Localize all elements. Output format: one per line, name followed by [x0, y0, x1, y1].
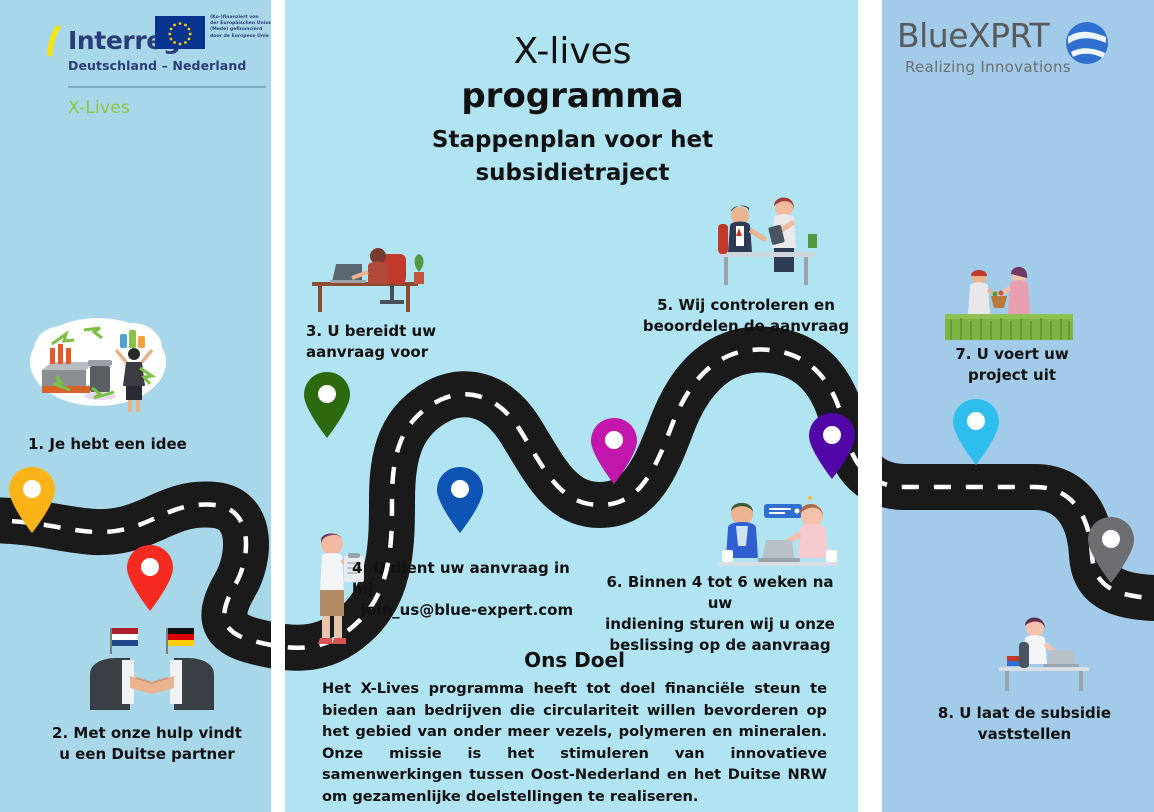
goal-title: Ons Doel	[322, 648, 827, 672]
eu-funding-line-4: door de Europese Unie	[210, 34, 282, 40]
page-tagline-line-2: subsidietraject	[300, 157, 845, 190]
flag-germany-icon	[166, 628, 194, 654]
poster-title-block: X-lives programma Stappenplan voor het s…	[300, 30, 845, 190]
illustration-idea-cloud	[28, 310, 168, 425]
step-5-line-1: 5. Wij controleren en	[641, 295, 851, 316]
page-tagline-line-1: Stappenplan voor het	[300, 124, 845, 157]
map-pin-step-6[interactable]	[806, 412, 858, 480]
flag-netherlands-icon	[110, 628, 138, 654]
interreg-programme: Deutschland – Nederland	[68, 58, 246, 73]
step-6-line-1: 6. Binnen 4 tot 6 weken na uw	[600, 572, 840, 614]
step-3-line-2: aanvraag voor	[306, 342, 476, 363]
step-label-3: 3. U bereidt uw aanvraag voor	[306, 321, 476, 363]
infographic-poster: Interreg Deutschland – Nederland X-Lives…	[0, 0, 1154, 812]
illustration-team-with-laptop	[700, 492, 848, 570]
bluexprt-wordmark: BlueXPRT	[897, 16, 1049, 55]
bluexprt-logo: BlueXPRT Realizing Innovations	[897, 16, 1112, 78]
step-8-line-1: 8. U laat de subsidie	[937, 703, 1112, 724]
map-pin-step-4[interactable]	[434, 466, 486, 534]
step-label-7: 7. U voert uw project uit	[947, 344, 1077, 386]
step-7-line-1: 7. U voert uw	[947, 344, 1077, 365]
interreg-slash-icon	[44, 24, 64, 58]
illustration-person-at-desk	[306, 228, 430, 316]
illustration-reviewers-at-desk	[712, 190, 820, 290]
step-6-line-2: indiening sturen wij u onze	[600, 614, 840, 635]
page-title: X-lives	[300, 30, 845, 74]
illustration-farmers-in-field	[945, 262, 1073, 340]
step-label-5: 5. Wij controleren en beoordelen de aanv…	[641, 295, 851, 337]
step-4-email[interactable]: join_us@blue-expert.com	[352, 600, 582, 621]
step-label-8: 8. U laat de subsidie vaststellen	[937, 703, 1112, 745]
step-3-line-1: 3. U bereidt uw	[306, 321, 476, 342]
eu-flag-icon	[155, 16, 205, 49]
step-1-line-1: 1. Je hebt een idee	[28, 434, 187, 455]
step-label-6: 6. Binnen 4 tot 6 weken na uw indiening …	[600, 572, 840, 656]
map-pin-step-8[interactable]	[1085, 516, 1137, 584]
bluexprt-tagline: Realizing Innovations	[905, 58, 1071, 76]
globe-icon	[1064, 20, 1110, 66]
step-4-line-1: 4. U dient uw aanvraag in bij	[352, 558, 582, 600]
map-pin-step-1[interactable]	[6, 466, 58, 534]
goal-body: Het X-Lives programma heeft tot doel fin…	[322, 678, 827, 807]
step-2-line-1: 2. Met onze hulp vindt	[52, 723, 242, 744]
step-2-line-2: u een Duitse partner	[52, 744, 242, 765]
map-pin-step-7[interactable]	[950, 398, 1002, 466]
goal-section: Ons Doel Het X-Lives programma heeft tot…	[322, 648, 827, 807]
step-label-2: 2. Met onze hulp vindt u een Duitse part…	[52, 723, 242, 765]
interreg-project-name: X-Lives	[68, 98, 130, 118]
interreg-divider	[68, 86, 266, 88]
step-7-line-2: project uit	[947, 365, 1077, 386]
map-pin-step-5[interactable]	[588, 417, 640, 485]
eu-funding-statement: (Ko-)finanziert von der Europäischen Uni…	[210, 15, 282, 40]
illustration-handshake-partners	[82, 626, 222, 710]
step-8-line-2: vaststellen	[937, 724, 1112, 745]
step-label-1: 1. Je hebt een idee	[28, 434, 187, 455]
map-pin-step-3[interactable]	[301, 371, 353, 439]
page-subtitle: programma	[300, 74, 845, 118]
map-pin-step-2[interactable]	[124, 544, 176, 612]
step-label-4: 4. U dient uw aanvraag in bij join_us@bl…	[352, 558, 582, 621]
step-5-line-2: beoordelen de aanvraag	[641, 316, 851, 337]
illustration-woman-at-desk	[985, 612, 1097, 692]
